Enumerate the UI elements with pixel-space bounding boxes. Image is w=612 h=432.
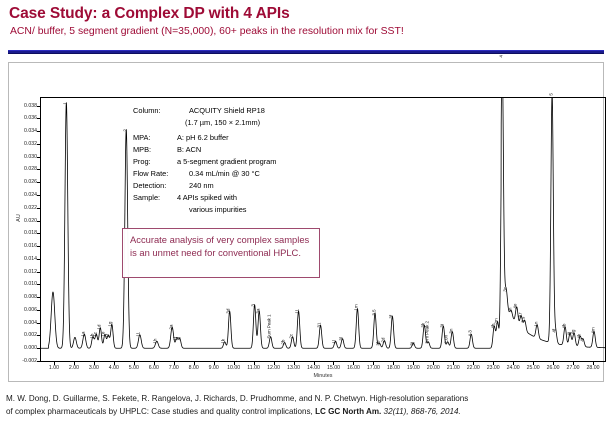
x-tick-label: 20.00 bbox=[427, 365, 440, 371]
header-divider bbox=[8, 50, 604, 54]
method-row-prog: Prog: a 5-segment gradient program bbox=[133, 156, 348, 168]
y-tick-label: 0.010 bbox=[24, 281, 37, 287]
y-tick-label: 0.022 bbox=[24, 205, 37, 211]
method-mpb-value: B: ACN bbox=[177, 144, 348, 156]
peak-label: 2m bbox=[495, 318, 500, 324]
peak-label: 3l bbox=[339, 337, 344, 340]
peak-label: 4m bbox=[591, 327, 596, 333]
y-tick-mark bbox=[37, 221, 40, 222]
method-row-detection: Detection: 240 nm bbox=[133, 180, 348, 192]
x-tick-label: 1.00 bbox=[49, 365, 59, 371]
method-flow-key: Flow Rate: bbox=[133, 168, 189, 180]
peak-label: 2a bbox=[169, 324, 174, 329]
x-tick-mark bbox=[134, 362, 135, 365]
x-tick-mark bbox=[174, 362, 175, 365]
x-tick-label: 16.00 bbox=[347, 365, 360, 371]
y-tick-label: 0.000 bbox=[24, 345, 37, 351]
x-tick-label: 11.00 bbox=[247, 365, 260, 371]
peak-label: 1k bbox=[222, 339, 227, 344]
method-sample-value: 4 APIs spiked with bbox=[177, 192, 348, 204]
method-detection-key: Detection: bbox=[133, 180, 189, 192]
y-tick-label: 0.024 bbox=[24, 192, 37, 198]
peak-label: Sum Peak 1 bbox=[268, 315, 273, 339]
method-prog-value: a 5-segment gradient program bbox=[177, 156, 348, 168]
citation-line-1: M. W. Dong, D. Guillarme, S. Fekete, R. … bbox=[6, 392, 606, 405]
method-mpa-value: A: pH 6.2 buffer bbox=[177, 132, 348, 144]
peak-label: 4 bbox=[499, 55, 504, 57]
y-tick-mark bbox=[37, 106, 40, 107]
x-tick-label: 15.00 bbox=[327, 365, 340, 371]
y-tick-mark bbox=[37, 131, 40, 132]
x-tick-label: 24.00 bbox=[507, 365, 520, 371]
x-tick-label: 27.00 bbox=[567, 365, 580, 371]
peak-label: 3n bbox=[449, 329, 454, 334]
x-tick-mark bbox=[194, 362, 195, 365]
x-tick-mark bbox=[294, 362, 295, 365]
method-column-value: ACQUITY Shield RP18 bbox=[189, 105, 348, 117]
x-tick-label: 10.00 bbox=[227, 365, 240, 371]
method-row-flow: Flow Rate: 0.34 mL/min @ 30 °C bbox=[133, 168, 348, 180]
peak-label: 1 bbox=[63, 102, 68, 104]
y-tick-mark bbox=[37, 297, 40, 298]
x-tick-mark bbox=[54, 362, 55, 365]
x-tick-mark bbox=[114, 362, 115, 365]
y-tick-label: 0.012 bbox=[24, 269, 37, 275]
y-tick-label: 0.004 bbox=[24, 320, 37, 326]
x-tick-label: 14.00 bbox=[307, 365, 320, 371]
peak-label: 4g bbox=[571, 330, 576, 335]
y-tick-label: 0.032 bbox=[24, 141, 37, 147]
y-tick-mark bbox=[37, 310, 40, 311]
x-tick-label: 8.00 bbox=[189, 365, 199, 371]
x-tick-label: 21.00 bbox=[447, 365, 460, 371]
method-sample-key: Sample: bbox=[133, 192, 177, 204]
y-tick-mark bbox=[37, 118, 40, 119]
citation-line2-text: of complex pharmaceuticals by UHPLC: Cas… bbox=[6, 407, 315, 416]
chromatogram-panel: AU Minutes -0.0020.0000.0020.0040.0060.0… bbox=[8, 62, 604, 382]
x-tick-mark bbox=[314, 362, 315, 365]
x-tick-mark bbox=[473, 362, 474, 365]
x-tick-mark bbox=[513, 362, 514, 365]
y-tick-label: 0.036 bbox=[24, 115, 37, 121]
y-tick-mark bbox=[37, 208, 40, 209]
peak-label: 4b bbox=[562, 324, 567, 329]
peak-label: 4i bbox=[580, 338, 585, 341]
x-tick-label: 23.00 bbox=[487, 365, 500, 371]
y-tick-mark bbox=[37, 323, 40, 324]
method-detection-value: 240 nm bbox=[189, 180, 348, 192]
y-tick-mark bbox=[37, 348, 40, 349]
x-tick-mark bbox=[573, 362, 574, 365]
x-tick-label: 19.00 bbox=[407, 365, 420, 371]
x-axis-label: Minutes bbox=[314, 373, 333, 379]
peak-label: 1d bbox=[97, 325, 102, 330]
slide-header: Case Study: a Complex DP with 4 APIs ACN… bbox=[0, 0, 612, 56]
peak-label: 1m bbox=[354, 305, 359, 311]
y-tick-label: 0.030 bbox=[24, 154, 37, 160]
peak-label: 3j bbox=[410, 342, 415, 345]
x-tick-label: 5.00 bbox=[129, 365, 139, 371]
method-row-sample: Sample: 4 APIs spiked with bbox=[133, 192, 348, 204]
y-tick-mark bbox=[37, 144, 40, 145]
y-tick-mark bbox=[37, 259, 40, 260]
x-tick-label: 13.00 bbox=[287, 365, 300, 371]
x-tick-mark bbox=[94, 362, 95, 365]
y-tick-label: 0.002 bbox=[24, 332, 37, 338]
method-prog-key: Prog: bbox=[133, 156, 177, 168]
method-details: Column: ACQUITY Shield RP18 (1.7 µm, 150… bbox=[133, 105, 348, 216]
method-mpb-key: MPB: bbox=[133, 144, 177, 156]
y-tick-label: -0.002 bbox=[22, 358, 37, 364]
x-tick-mark bbox=[553, 362, 554, 365]
x-tick-mark bbox=[373, 362, 374, 365]
y-tick-label: 0.018 bbox=[24, 230, 37, 236]
peak-label: 2c bbox=[290, 334, 295, 339]
peak-label: 4e bbox=[514, 304, 519, 309]
x-tick-mark bbox=[493, 362, 494, 365]
peak-label: 4f bbox=[552, 329, 557, 333]
method-column-value2: (1.7 µm, 150 × 2.1mm) bbox=[133, 117, 348, 129]
callout-box: Accurate analysis of very complex sample… bbox=[122, 228, 320, 278]
method-row-column: Column: ACQUITY Shield RP18 bbox=[133, 105, 348, 117]
peak-label: 2.0n bbox=[445, 335, 450, 344]
y-tick-mark bbox=[37, 335, 40, 336]
x-tick-label: 7.00 bbox=[169, 365, 179, 371]
y-tick-label: 0.020 bbox=[24, 218, 37, 224]
x-tick-label: 12.00 bbox=[267, 365, 280, 371]
x-tick-mark bbox=[433, 362, 434, 365]
peak-label: 3a bbox=[256, 308, 261, 313]
peak-label: 1n bbox=[534, 322, 539, 327]
x-tick-mark bbox=[74, 362, 75, 365]
peak-label: 3d bbox=[227, 308, 232, 313]
y-tick-label: 0.038 bbox=[24, 103, 37, 109]
x-tick-mark bbox=[353, 362, 354, 365]
x-tick-label: 25.00 bbox=[527, 365, 540, 371]
peak-label: 1a bbox=[81, 331, 86, 336]
citation: M. W. Dong, D. Guillarme, S. Fekete, R. … bbox=[6, 392, 606, 418]
y-axis-label: AU bbox=[16, 214, 22, 222]
peak-label: 3.5 bbox=[372, 309, 377, 315]
peak-label: 3 bbox=[252, 304, 257, 306]
y-tick-mark bbox=[37, 195, 40, 196]
peak-label: 2d bbox=[381, 338, 386, 343]
x-tick-label: 18.00 bbox=[387, 365, 400, 371]
peak-label: 1c bbox=[93, 332, 98, 337]
x-tick-label: 4.00 bbox=[109, 365, 119, 371]
peak-label: 4-3 bbox=[468, 330, 473, 336]
y-tick-mark bbox=[37, 233, 40, 234]
x-tick-label: 2.00 bbox=[69, 365, 79, 371]
y-tick-label: 0.016 bbox=[24, 243, 37, 249]
page-title: Case Study: a Complex DP with 4 APIs bbox=[9, 5, 290, 23]
y-tick-label: 0.028 bbox=[24, 166, 37, 172]
y-tick-label: 0.014 bbox=[24, 256, 37, 262]
x-tick-label: 26.00 bbox=[547, 365, 560, 371]
y-tick-label: 0.034 bbox=[24, 128, 37, 134]
x-tick-label: 9.00 bbox=[209, 365, 219, 371]
peak-label: 2 bbox=[123, 129, 128, 131]
peak-label: 1h bbox=[154, 338, 159, 343]
citation-line-2: of complex pharmaceuticals by UHPLC: Cas… bbox=[6, 405, 606, 418]
method-column-key: Column: bbox=[133, 105, 189, 117]
x-tick-mark bbox=[393, 362, 394, 365]
y-tick-label: 0.006 bbox=[24, 307, 37, 313]
peak-label: 3f bbox=[389, 315, 394, 319]
y-tick-mark bbox=[37, 157, 40, 158]
peak-label: 3c bbox=[503, 287, 508, 292]
page-subtitle: ACN/ buffer, 5 segment gradient (N=35,00… bbox=[10, 26, 404, 37]
x-tick-mark bbox=[254, 362, 255, 365]
peak-label: 1j bbox=[177, 337, 182, 340]
x-tick-label: 3.00 bbox=[89, 365, 99, 371]
x-tick-label: 22.00 bbox=[467, 365, 480, 371]
y-tick-mark bbox=[37, 246, 40, 247]
y-tick-mark bbox=[37, 169, 40, 170]
x-tick-mark bbox=[333, 362, 334, 365]
peak-label: 1f bbox=[105, 334, 110, 338]
peak-label: 3.s bbox=[522, 317, 527, 323]
x-tick-mark bbox=[413, 362, 414, 365]
peak-label: 11 bbox=[137, 332, 142, 337]
method-flow-value: 0.34 mL/min @ 30 °C bbox=[189, 168, 348, 180]
peak-label: 11 bbox=[296, 309, 301, 314]
x-tick-mark bbox=[593, 362, 594, 365]
y-tick-mark bbox=[37, 182, 40, 183]
y-tick-label: 0.008 bbox=[24, 294, 37, 300]
method-row-mpb: MPB: B: ACN bbox=[133, 144, 348, 156]
x-tick-mark bbox=[234, 362, 235, 365]
citation-journal: LC GC North Am. bbox=[315, 407, 381, 416]
x-tick-label: 6.00 bbox=[149, 365, 159, 371]
x-tick-mark bbox=[533, 362, 534, 365]
y-tick-mark bbox=[37, 272, 40, 273]
peak-label: 3i bbox=[440, 325, 445, 328]
x-tick-mark bbox=[274, 362, 275, 365]
citation-volume: 32(11), 868-76, 2014. bbox=[381, 407, 461, 416]
x-tick-label: 28.00 bbox=[587, 365, 600, 371]
y-tick-mark bbox=[37, 361, 40, 362]
peak-label: 1g bbox=[109, 322, 114, 327]
peak-label: 2b bbox=[282, 340, 287, 345]
peak-label: 31 bbox=[318, 322, 323, 327]
peak-label: 1l bbox=[332, 340, 337, 343]
method-row-mpa: MPA: A: pH 6.2 buffer bbox=[133, 132, 348, 144]
y-tick-label: 0.026 bbox=[24, 179, 37, 185]
x-tick-label: 17.00 bbox=[367, 365, 380, 371]
peak-label: 3-m Peak 2 bbox=[425, 321, 430, 344]
method-sample-value2: various impurities bbox=[133, 204, 348, 216]
x-tick-mark bbox=[453, 362, 454, 365]
x-tick-mark bbox=[214, 362, 215, 365]
peak-label: 5 bbox=[549, 94, 554, 96]
x-tick-mark bbox=[154, 362, 155, 365]
y-tick-mark bbox=[37, 284, 40, 285]
method-mpa-key: MPA: bbox=[133, 132, 177, 144]
